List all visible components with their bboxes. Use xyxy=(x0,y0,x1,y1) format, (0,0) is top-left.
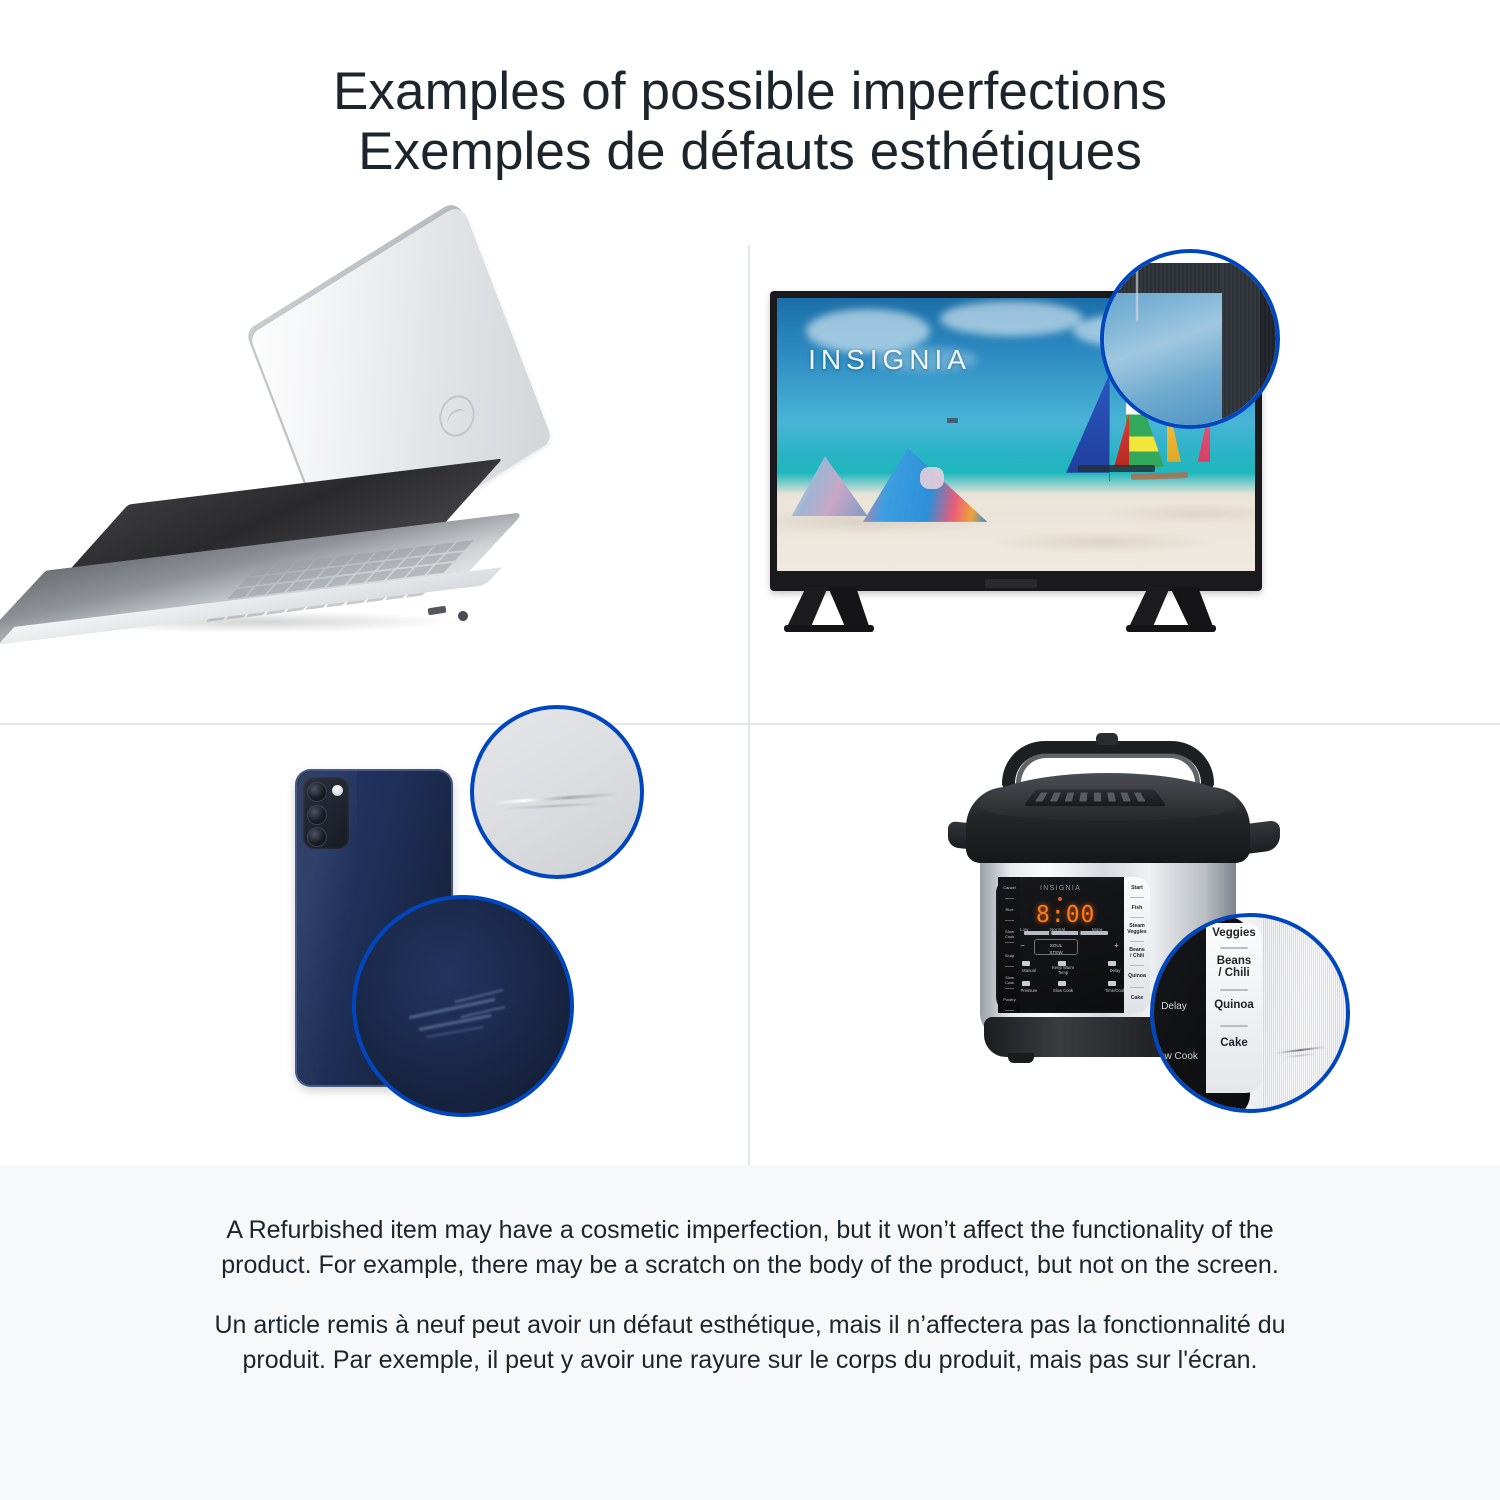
cooker-magnified-label-delay: Delay xyxy=(1150,1001,1198,1012)
cooker-steam-valve xyxy=(1096,733,1118,745)
cloud-shape xyxy=(940,301,1083,336)
button-divider xyxy=(1220,989,1248,991)
cooker-left-button-column[interactable]: Cancel Rice Slow Cook Soup Slow Cook Pou… xyxy=(998,877,1020,1013)
cooker-led-display: 8:00 xyxy=(1036,903,1094,927)
cooker-plus-icon[interactable]: + xyxy=(1114,941,1119,950)
tv-imperfection-magnifier xyxy=(1100,249,1280,429)
cooker-button-fish[interactable]: Fish xyxy=(1125,905,1149,911)
camera-lens-icon xyxy=(307,827,327,847)
button-divider xyxy=(1130,917,1144,918)
distant-boat xyxy=(947,418,958,423)
tv-scuff-mark xyxy=(1136,265,1138,321)
footer-description: A Refurbished item may have a cosmetic i… xyxy=(0,1165,1500,1500)
example-cell-pressure-cooker: INSIGNIA 8:00 SOULSTEW − + Low Normal Mo… xyxy=(752,727,1500,1165)
footer-paragraph-english: A Refurbished item may have a cosmetic i… xyxy=(190,1213,1310,1282)
cooker-right-button-column[interactable]: Start Fish SteamVeggies Beans/ Chili Qui… xyxy=(1124,877,1150,1013)
cooker-magnified-button-veggies: Veggies xyxy=(1206,927,1262,939)
cooker-key[interactable] xyxy=(1108,961,1116,966)
beach-tent-left xyxy=(791,456,867,516)
cooker-button-slow-cook[interactable]: Slow Cook xyxy=(1001,927,1018,941)
boat-hull-secondary xyxy=(1131,472,1189,480)
phone-scratch-mark xyxy=(426,1026,483,1038)
cooker-status-indicator xyxy=(1058,897,1062,901)
cooker-key[interactable] xyxy=(1108,981,1116,986)
cooker-key[interactable] xyxy=(1058,981,1066,986)
cooker-button-soup[interactable]: Soup xyxy=(1001,951,1018,965)
button-divider xyxy=(1130,897,1144,898)
laptop-illustration xyxy=(0,245,748,723)
boat-hull xyxy=(1078,465,1154,472)
tv-illustration: INSIGNIA xyxy=(752,245,1500,723)
page-title-english: Examples of possible imperfections xyxy=(333,62,1167,122)
cooker-key[interactable] xyxy=(1022,981,1030,986)
cooker-magnified-button-cake: Cake xyxy=(1206,1037,1262,1049)
pressure-cooker-illustration: INSIGNIA 8:00 SOULSTEW − + Low Normal Mo… xyxy=(752,727,1500,1165)
cooker-button-poultry[interactable]: Poultry xyxy=(1001,995,1018,1009)
cooker-magnified-button-beans-chili: Beans/ Chili xyxy=(1206,955,1262,979)
button-divider xyxy=(1220,1025,1248,1027)
laptop-round-port xyxy=(457,610,468,621)
cooker-key[interactable] xyxy=(1022,961,1030,966)
cooker-button-slow-cook-2[interactable]: Slow Cook xyxy=(1001,973,1018,987)
cooker-magnified-steel xyxy=(1262,917,1350,1113)
tv-magnified-side-panel xyxy=(1260,271,1280,429)
cooker-button-start[interactable]: Start xyxy=(1125,885,1149,891)
cooker-minus-icon[interactable]: − xyxy=(1020,941,1025,950)
cooker-magnified-button-quinoa: Quinoa xyxy=(1206,999,1262,1011)
cooker-brand-label: INSIGNIA xyxy=(1040,885,1081,892)
page-header: Examples of possible imperfections Exemp… xyxy=(0,0,1500,245)
camera-lens-icon xyxy=(307,805,327,825)
sailboat-sail-blue xyxy=(1066,374,1109,472)
cooker-button-steam-veggies[interactable]: SteamVeggies xyxy=(1125,923,1149,935)
phone-imperfection-magnifier xyxy=(352,895,574,1117)
cooker-key-label: Keep Warm Temp xyxy=(1050,965,1076,975)
footer-paragraph-french: Un article remis à neuf peut avoir un dé… xyxy=(190,1308,1310,1377)
camera-lens-icon xyxy=(307,782,327,802)
example-cell-laptop xyxy=(0,245,748,723)
cooker-sublabel-more: More xyxy=(1092,927,1103,932)
example-cell-tv: INSIGNIA xyxy=(752,245,1500,723)
button-divider xyxy=(1130,965,1144,966)
refurbished-imperfections-infographic: Examples of possible imperfections Exemp… xyxy=(0,0,1500,1500)
cooker-magnified-label-slow-cook: Slow Cook xyxy=(1150,1051,1198,1062)
button-divider xyxy=(1220,947,1248,949)
cooker-preset-button[interactable]: SOULSTEW xyxy=(1034,939,1078,955)
page-title-french: Exemples de défauts esthétiques xyxy=(358,122,1142,182)
examples-grid: INSIGNIA xyxy=(0,245,1500,1165)
cooker-button-cake[interactable]: Cake xyxy=(1125,995,1149,1001)
tv-magnified-right-bezel xyxy=(1222,263,1264,429)
cooker-button-rice[interactable]: Rice xyxy=(1001,905,1018,919)
camera-flash-icon xyxy=(332,785,343,796)
tent-emblem xyxy=(920,467,944,489)
button-divider xyxy=(1130,941,1144,942)
cooker-imperfection-magnifier: Delay Slow Cook Veggies Beans/ Chili Qui… xyxy=(1150,913,1350,1113)
cooker-key-label: Slow Cook xyxy=(1050,988,1076,993)
button-divider xyxy=(1130,987,1144,988)
tv-screen-brand-logo: INSIGNIA xyxy=(808,344,971,376)
cooker-sublabel-low: Low xyxy=(1020,927,1029,932)
phone-illustration xyxy=(0,727,748,1165)
tv-feet xyxy=(770,585,1270,645)
cooker-button-cancel[interactable]: Cancel xyxy=(1001,883,1018,897)
grid-vertical-divider xyxy=(748,245,750,1165)
cooker-button-beans-chili[interactable]: Beans/ Chili xyxy=(1125,947,1149,959)
tv-magnified-screen-area xyxy=(1100,291,1222,429)
grid-horizontal-divider xyxy=(0,723,1500,725)
example-cell-phone xyxy=(0,727,748,1165)
cooker-sublabel-normal: Normal xyxy=(1050,927,1065,932)
cooker-button-quinoa[interactable]: Quinoa xyxy=(1125,973,1149,979)
